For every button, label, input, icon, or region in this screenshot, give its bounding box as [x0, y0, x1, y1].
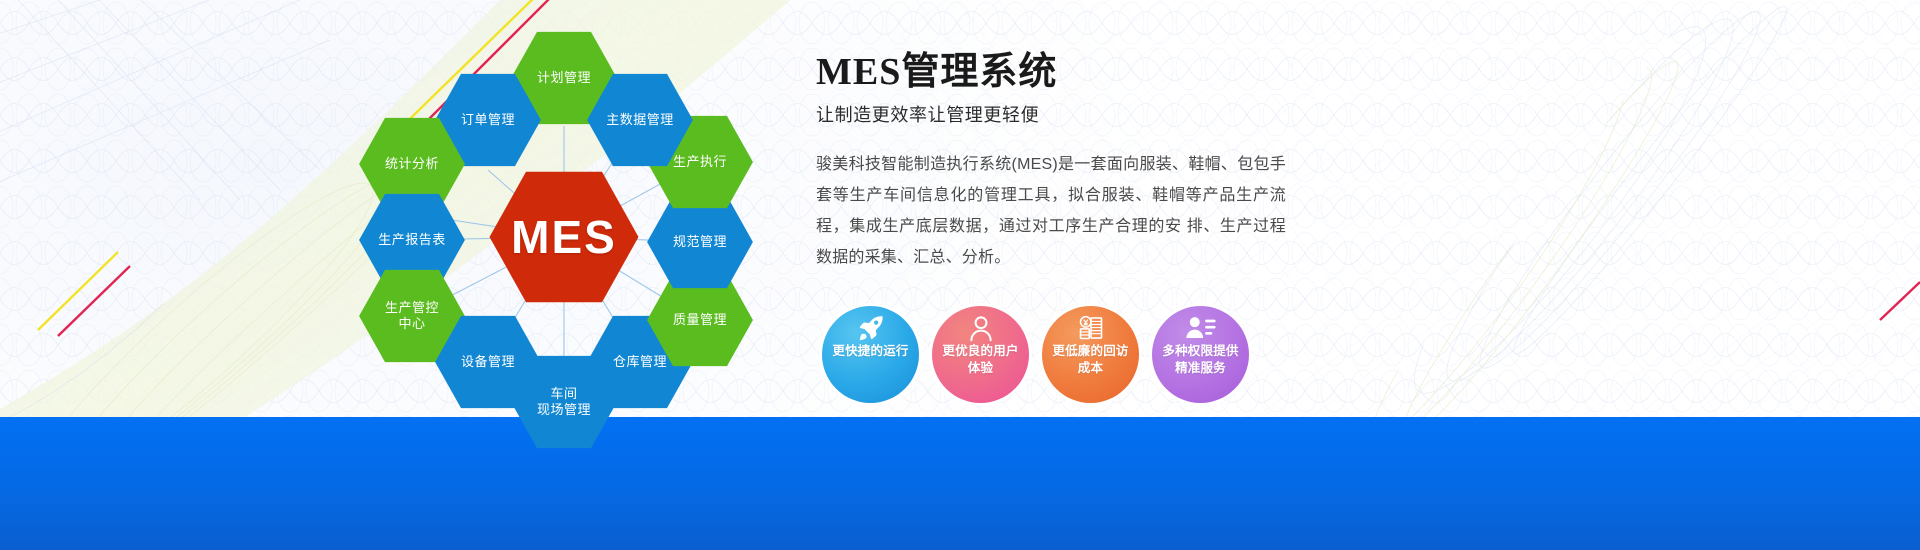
hex-node-label: 计划管理	[531, 70, 597, 86]
banner-stage: 计划管理订单管理统计分析生产报告表生产管控中心设备管理车间现场管理仓库管理质量管…	[0, 0, 1920, 550]
money-icon	[1077, 315, 1105, 341]
hex-node-label: 订单管理	[455, 112, 521, 128]
feature-badge-2[interactable]: 更优良的用户体验	[932, 306, 1029, 403]
hex-node-label: 仓库管理	[607, 354, 673, 370]
feature-badge-label: 更快捷的运行	[825, 343, 915, 360]
description-paragraph: 骏美科技智能制造执行系统(MES)是一套面向服装、鞋帽、包包手套等生产车间信息化…	[816, 149, 1286, 274]
hex-node-label: 质量管理	[667, 312, 733, 328]
hex-core-label: MES	[505, 209, 623, 265]
feature-badge-1[interactable]: 更快捷的运行	[822, 306, 919, 403]
hex-node-label: 车间现场管理	[531, 386, 597, 418]
hex-node-label: 生产管控中心	[379, 300, 445, 332]
page-subtitle: 让制造更效率让管理更轻便	[816, 101, 1286, 127]
feature-badge-3[interactable]: 更低廉的回访成本	[1042, 306, 1139, 403]
user-icon	[967, 315, 995, 341]
mes-hex-diagram: 计划管理订单管理统计分析生产报告表生产管控中心设备管理车间现场管理仓库管理质量管…	[330, 14, 800, 434]
permissions-icon	[1186, 315, 1216, 341]
hex-node-label: 统计分析	[379, 156, 445, 172]
feature-badge-label: 更优良的用户体验	[935, 343, 1025, 377]
rocket-icon	[856, 315, 886, 341]
hex-node-label: 设备管理	[455, 354, 521, 370]
hex-node-label: 规范管理	[667, 234, 733, 250]
page-title: MES管理系统	[816, 52, 1286, 94]
feature-badge-label: 更低廉的回访成本	[1045, 343, 1135, 377]
banner-copy: MES管理系统 让制造更效率让管理更轻便 骏美科技智能制造执行系统(MES)是一…	[816, 52, 1286, 274]
hex-node-label: 生产报告表	[372, 232, 452, 248]
bottom-blue-band	[0, 417, 1920, 550]
hex-node-label: 主数据管理	[600, 112, 680, 128]
feature-badge-4[interactable]: 多种权限提供精准服务	[1152, 306, 1249, 403]
feature-badge-label: 多种权限提供精准服务	[1155, 343, 1245, 377]
hex-node-label: 生产执行	[667, 154, 733, 170]
feature-badge-list: 更快捷的运行更优良的用户体验更低廉的回访成本多种权限提供精准服务	[822, 306, 1249, 403]
